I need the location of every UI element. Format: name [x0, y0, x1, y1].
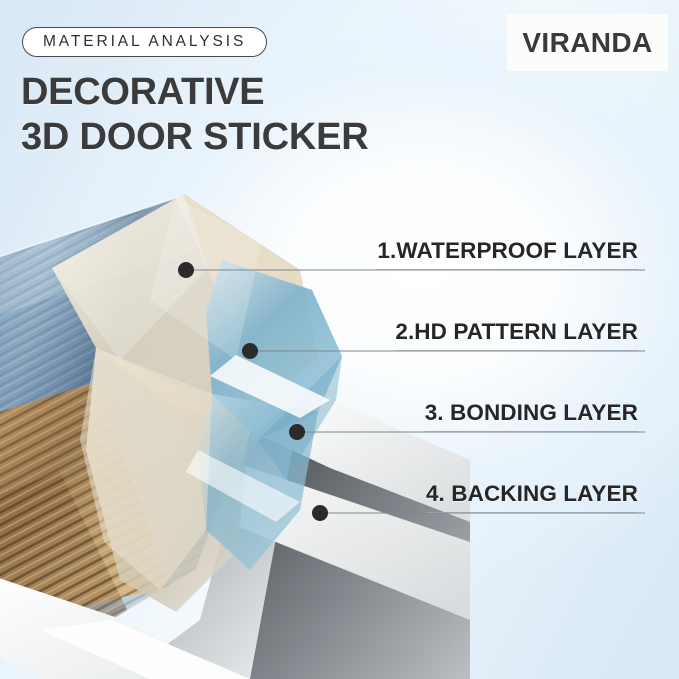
callout-2-label: 2.HD PATTERN LAYER [395, 319, 638, 345]
title-line-2: 3D DOOR STICKER [21, 115, 368, 160]
page-title: DECORATIVE 3D DOOR STICKER [21, 70, 368, 160]
callout-2: 2.HD PATTERN LAYER [395, 319, 638, 351]
callout-4-rule [426, 512, 638, 513]
brand-name: VIRANDA [522, 27, 652, 59]
eyebrow-label: MATERIAL ANALYSIS [43, 34, 246, 50]
callout-1-rule [377, 269, 638, 270]
eyebrow-pill: MATERIAL ANALYSIS [22, 27, 267, 57]
infographic-page: MATERIAL ANALYSIS DECORATIVE 3D DOOR STI… [0, 0, 679, 679]
callout-4-label: 4. BACKING LAYER [426, 481, 638, 507]
callout-1: 1.WATERPROOF LAYER [377, 238, 638, 270]
callout-3-label: 3. BONDING LAYER [425, 400, 638, 426]
sticker-illustration [0, 150, 470, 679]
callout-3: 3. BONDING LAYER [425, 400, 638, 432]
title-line-1: DECORATIVE [21, 71, 264, 113]
callout-4: 4. BACKING LAYER [426, 481, 638, 513]
callout-3-rule [425, 431, 638, 432]
callout-2-rule [395, 350, 638, 351]
callout-1-label: 1.WATERPROOF LAYER [377, 238, 638, 264]
brand-logo: VIRANDA [507, 14, 668, 71]
